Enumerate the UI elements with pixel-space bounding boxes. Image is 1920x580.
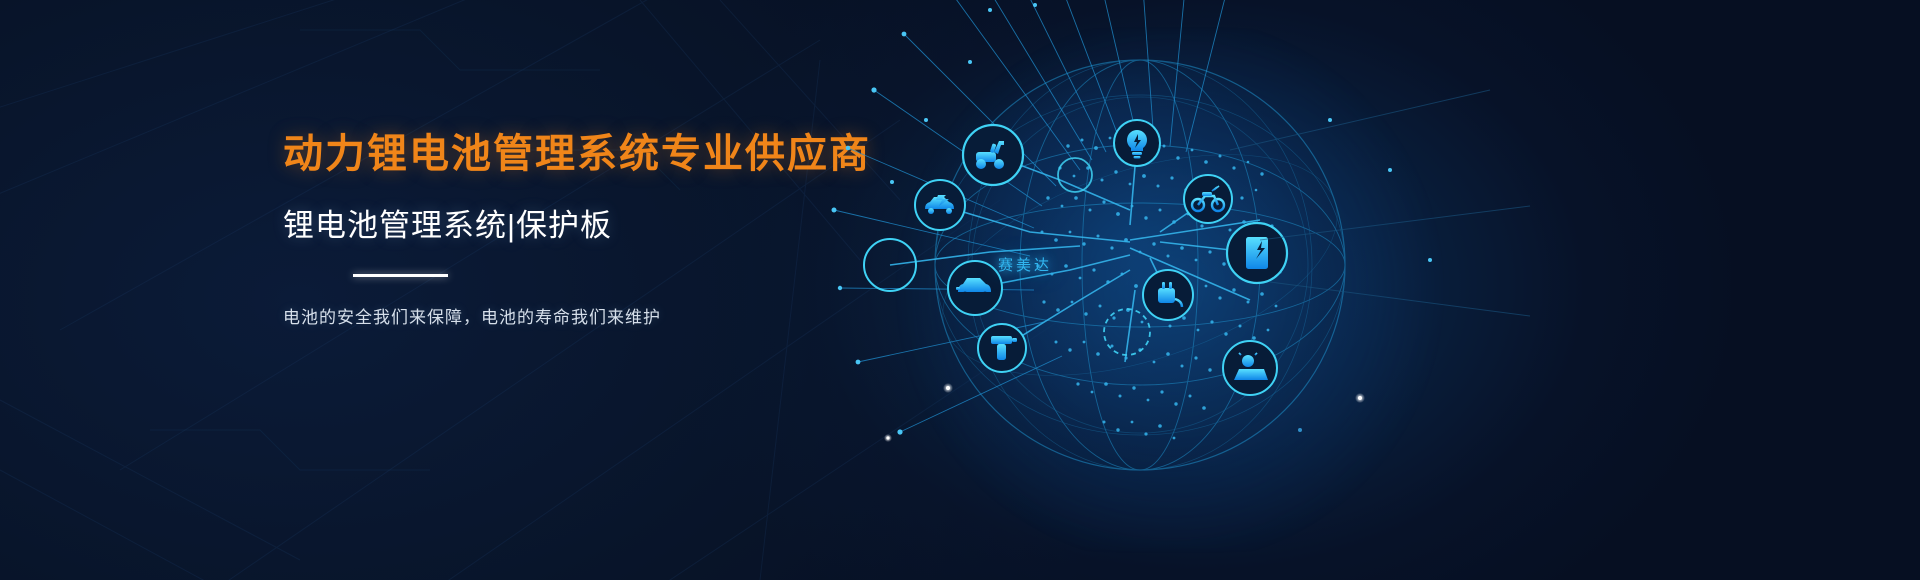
page-title: 动力锂电池管理系统专业供应商 <box>283 132 903 176</box>
node-scooter-icon[interactable] <box>963 125 1023 185</box>
page-subtitle: 锂电池管理系统|保护板 <box>283 200 903 245</box>
page-tagline: 电池的安全我们来保障，电池的寿命我们来维护 <box>283 303 903 328</box>
hero-banner: 动力锂电池管理系统专业供应商 锂电池管理系统|保护板 电池的安全我们来保障，电池… <box>0 0 1920 580</box>
node-charger-plug-icon[interactable] <box>1143 270 1193 320</box>
hero-text-block: 动力锂电池管理系统专业供应商 锂电池管理系统|保护板 电池的安全我们来保障，电池… <box>283 132 903 328</box>
globe-brand-label: 赛美达 <box>998 254 1052 275</box>
node-electric-car-icon[interactable] <box>915 180 965 230</box>
node-power-bank-icon[interactable] <box>1227 223 1287 283</box>
node-motorcycle-icon[interactable] <box>1184 175 1232 223</box>
node-car-icon[interactable] <box>948 261 1002 315</box>
node-lightbulb-icon[interactable] <box>1114 120 1160 166</box>
digital-globe-graphic: 赛美达 <box>830 0 1550 580</box>
globe-svg <box>830 0 1550 580</box>
node-drill-icon[interactable] <box>978 324 1026 372</box>
title-divider <box>353 274 448 277</box>
node-solar-panel-icon[interactable] <box>1223 341 1277 395</box>
